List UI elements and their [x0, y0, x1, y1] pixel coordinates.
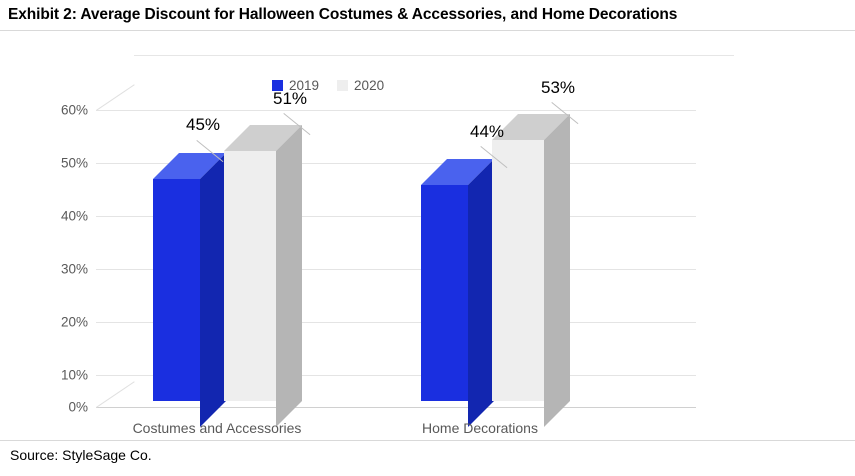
y-tick-label: 50% [40, 156, 88, 171]
category-label-costumes: Costumes and Accessories [133, 420, 302, 436]
legend-label-2019: 2019 [289, 78, 319, 93]
bar-front-face [224, 151, 276, 401]
legend-item-2019: 2019 [272, 78, 319, 93]
value-label-2019-home: 44% [470, 122, 504, 142]
legend-swatch-2019-icon [272, 80, 283, 91]
legend-label-2020: 2020 [354, 78, 384, 93]
legend: 2019 2020 [272, 78, 384, 93]
category-label-home: Home Decorations [422, 420, 538, 436]
legend-item-2020: 2020 [337, 78, 384, 93]
axis-depth-edge-top [96, 84, 135, 111]
bar-side-face [468, 159, 494, 427]
back-wall-top-edge [134, 55, 734, 56]
y-tick-label: 10% [40, 368, 88, 383]
page-title: Exhibit 2: Average Discount for Hallowee… [8, 6, 677, 24]
y-tick-label: 0% [40, 400, 88, 415]
axis-depth-edge [96, 381, 135, 408]
chart-area: 60% 50% 40% 30% 20% 10% 0% [0, 32, 855, 438]
bar-front-face [492, 140, 544, 401]
y-tick-label: 20% [40, 315, 88, 330]
y-axis: 60% 50% 40% 30% 20% 10% 0% [20, 32, 88, 438]
value-label-2019-costumes: 45% [186, 115, 220, 135]
bar-front-face [153, 179, 200, 401]
gridline [96, 110, 696, 111]
bar-side-face [544, 114, 570, 427]
source-divider [0, 440, 855, 441]
value-label-2020-home: 53% [541, 78, 575, 98]
title-divider [0, 30, 855, 31]
y-tick-label: 40% [40, 209, 88, 224]
legend-swatch-2020-icon [337, 80, 348, 91]
y-tick-label: 60% [40, 103, 88, 118]
source-note: Source: StyleSage Co. [10, 447, 152, 463]
y-tick-label: 30% [40, 262, 88, 277]
bar-side-face [276, 125, 302, 427]
bar-front-face [421, 185, 468, 401]
bar-side-face [200, 153, 226, 427]
x-axis-line [96, 407, 696, 408]
